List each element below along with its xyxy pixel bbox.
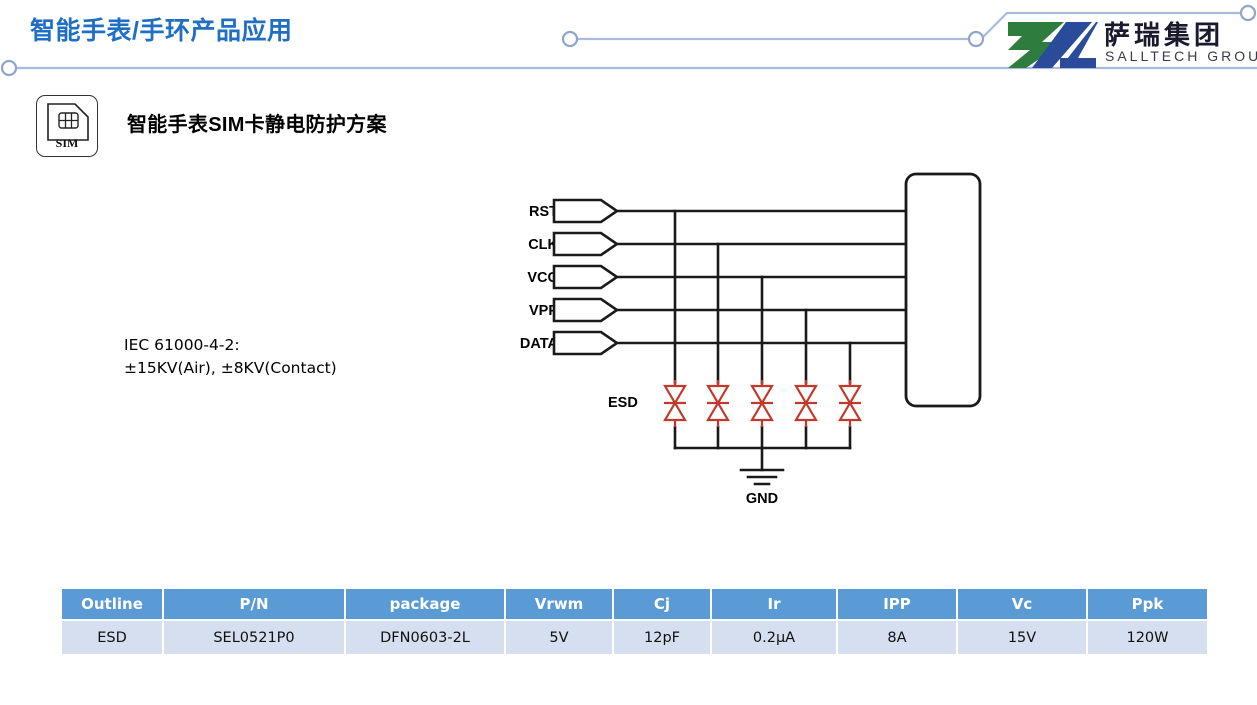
- cell-cj: 12pF: [614, 621, 710, 654]
- cell-outline: ESD: [62, 621, 162, 654]
- circuit-schematic-svg: [0, 0, 1257, 560]
- cell-package: DFN0603-2L: [346, 621, 504, 654]
- esd-diode-1: [664, 380, 686, 427]
- table-header-outline: Outline: [62, 589, 162, 619]
- table-header-ppk: Ppk: [1088, 589, 1207, 619]
- table-header-package: package: [346, 589, 504, 619]
- table-row: ESD SEL0521P0 DFN0603-2L 5V 12pF 0.2µA 8…: [62, 621, 1207, 654]
- esd-diode-2: [707, 380, 729, 427]
- table-header-pn: P/N: [164, 589, 344, 619]
- esd-diode-4: [795, 380, 817, 427]
- cell-ppk: 120W: [1088, 621, 1207, 654]
- cell-ir: 0.2µA: [712, 621, 836, 654]
- table-header-ipp: IPP: [838, 589, 956, 619]
- table-header-ir: Ir: [712, 589, 836, 619]
- esd-diode-5: [839, 380, 861, 427]
- table-header-vrwm: Vrwm: [506, 589, 612, 619]
- cell-pn: SEL0521P0: [164, 621, 344, 654]
- esd-diode-3: [751, 380, 773, 427]
- table-header-vc: Vc: [958, 589, 1086, 619]
- cell-vc: 15V: [958, 621, 1086, 654]
- specification-table: Outline P/N package Vrwm Cj Ir IPP Vc Pp…: [60, 587, 1209, 656]
- table-header-cj: Cj: [614, 589, 710, 619]
- table-header-row: Outline P/N package Vrwm Cj Ir IPP Vc Pp…: [62, 589, 1207, 619]
- cell-vrwm: 5V: [506, 621, 612, 654]
- cell-ipp: 8A: [838, 621, 956, 654]
